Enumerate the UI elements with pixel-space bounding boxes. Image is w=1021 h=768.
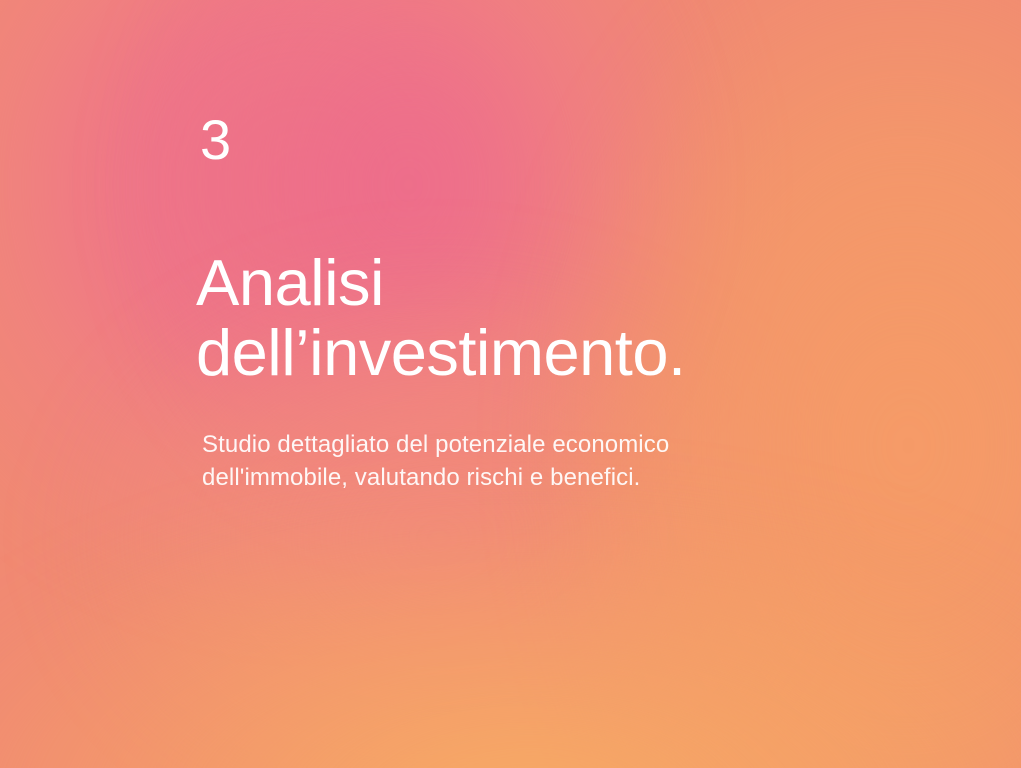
- section-number: 3: [200, 112, 232, 168]
- slide-content: 3 Analisi dell’investimento. Studio dett…: [200, 0, 900, 768]
- slide-subtitle: Studio dettagliato del potenziale econom…: [202, 428, 669, 494]
- slide: 3 Analisi dell’investimento. Studio dett…: [0, 0, 1021, 768]
- slide-title: Analisi dell’investimento.: [196, 248, 686, 388]
